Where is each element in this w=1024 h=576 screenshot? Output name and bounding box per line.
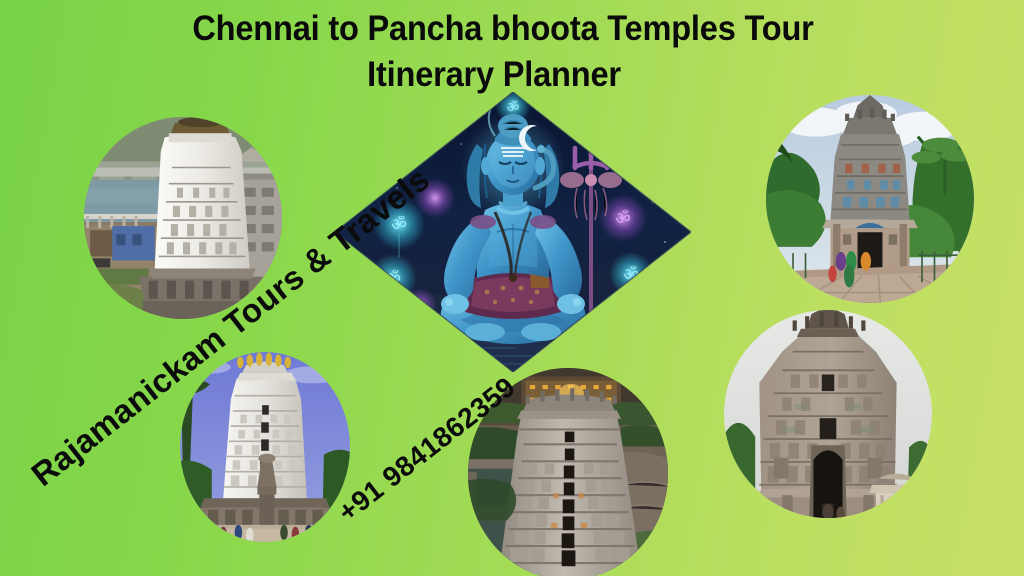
svg-text:ॐ: ॐ: [615, 209, 631, 229]
temple-photo-top-right: [766, 95, 974, 303]
temple-photo-top-left: [84, 117, 282, 319]
svg-text:ॐ: ॐ: [391, 215, 407, 235]
title-line-1: Chennai to Pancha bhoota Temples Tour: [18, 6, 987, 52]
svg-text:ॐ: ॐ: [507, 100, 520, 116]
temple-photo-bottom-left: [180, 352, 350, 542]
temple-photo-bottom-center: [468, 368, 668, 576]
page-title: Chennai to Pancha bhoota Temples Tour It…: [0, 6, 1024, 98]
svg-text:ॐ: ॐ: [385, 269, 401, 289]
temple-photo-right-middle: [724, 310, 932, 518]
shiva-meditating-diamond: ॐ ॐ ॐ ॐ ॐ: [335, 92, 691, 372]
poster-canvas: Chennai to Pancha bhoota Temples Tour It…: [0, 0, 1024, 576]
